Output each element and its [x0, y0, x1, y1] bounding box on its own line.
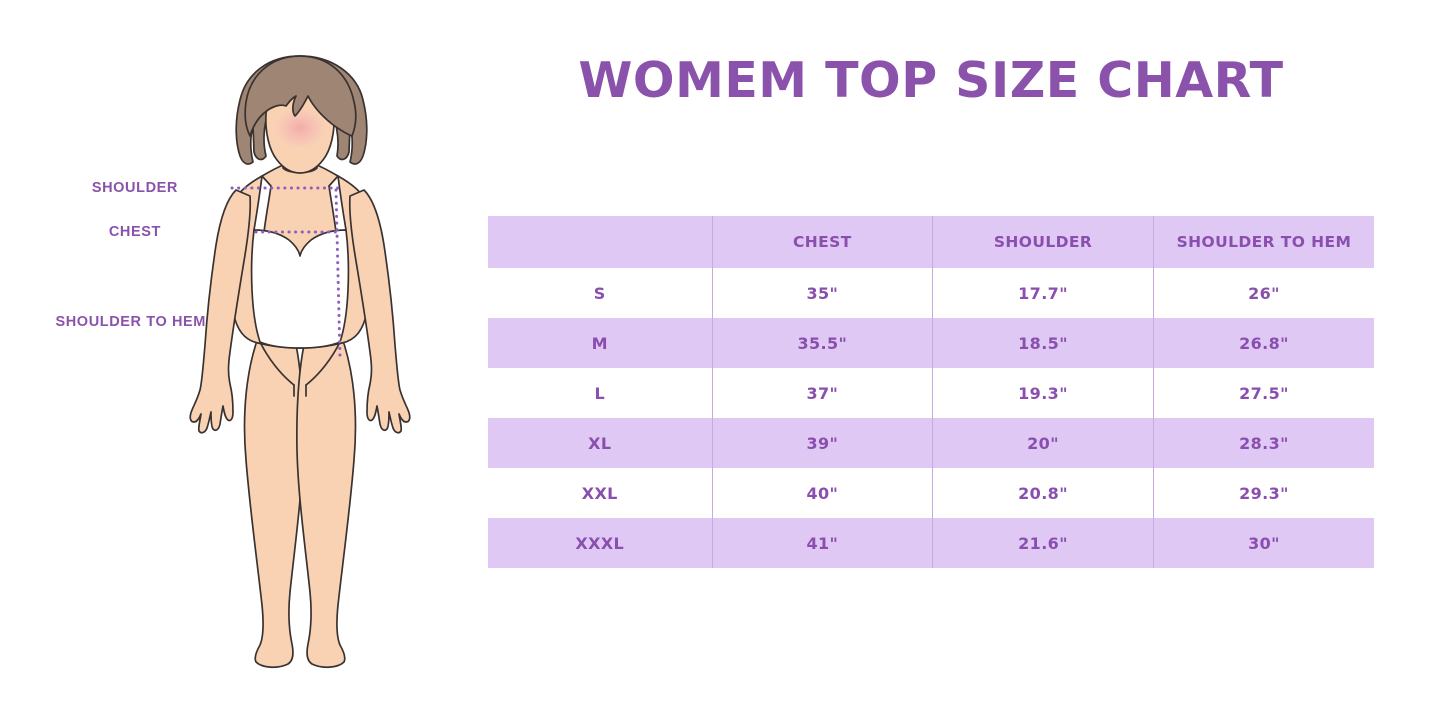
cell-chest: 40" [712, 468, 933, 518]
size-chart-page: WOMEM TOP SIZE CHART SHOULDER CHEST SHOU… [0, 0, 1445, 723]
cell-chest: 39" [712, 418, 933, 468]
cell-shoulder-to-hem: 26.8" [1153, 318, 1374, 368]
cell-shoulder: 21.6" [933, 518, 1154, 568]
cell-size: XXL [488, 468, 712, 518]
cell-shoulder-to-hem: 29.3" [1153, 468, 1374, 518]
table-row: XL 39" 20" 28.3" [488, 418, 1374, 468]
cell-shoulder: 20" [933, 418, 1154, 468]
cell-shoulder: 18.5" [933, 318, 1154, 368]
size-chart-table: CHEST SHOULDER SHOULDER TO HEM S 35" 17.… [488, 216, 1374, 568]
table-row: XXXL 41" 21.6" 30" [488, 518, 1374, 568]
table-row: S 35" 17.7" 26" [488, 268, 1374, 318]
cell-shoulder-to-hem: 27.5" [1153, 368, 1374, 418]
cell-chest: 37" [712, 368, 933, 418]
cell-shoulder-to-hem: 28.3" [1153, 418, 1374, 468]
cell-chest: 35.5" [712, 318, 933, 368]
cell-chest: 35" [712, 268, 933, 318]
table-header-row: CHEST SHOULDER SHOULDER TO HEM [488, 216, 1374, 268]
column-header-shoulder-to-hem: SHOULDER TO HEM [1153, 216, 1374, 268]
column-header-size [488, 216, 712, 268]
cell-size: L [488, 368, 712, 418]
cell-shoulder-to-hem: 26" [1153, 268, 1374, 318]
table-row: L 37" 19.3" 27.5" [488, 368, 1374, 418]
female-figure-illustration [150, 40, 450, 700]
cell-size: XXXL [488, 518, 712, 568]
cell-shoulder: 19.3" [933, 368, 1154, 418]
table-row: XXL 40" 20.8" 29.3" [488, 468, 1374, 518]
cell-shoulder: 17.7" [933, 268, 1154, 318]
cell-size: S [488, 268, 712, 318]
page-title: WOMEM TOP SIZE CHART [488, 52, 1374, 109]
cell-size: XL [488, 418, 712, 468]
table-row: M 35.5" 18.5" 26.8" [488, 318, 1374, 368]
cell-chest: 41" [712, 518, 933, 568]
column-header-shoulder: SHOULDER [933, 216, 1154, 268]
cell-shoulder-to-hem: 30" [1153, 518, 1374, 568]
cell-shoulder: 20.8" [933, 468, 1154, 518]
cell-size: M [488, 318, 712, 368]
column-header-chest: CHEST [712, 216, 933, 268]
